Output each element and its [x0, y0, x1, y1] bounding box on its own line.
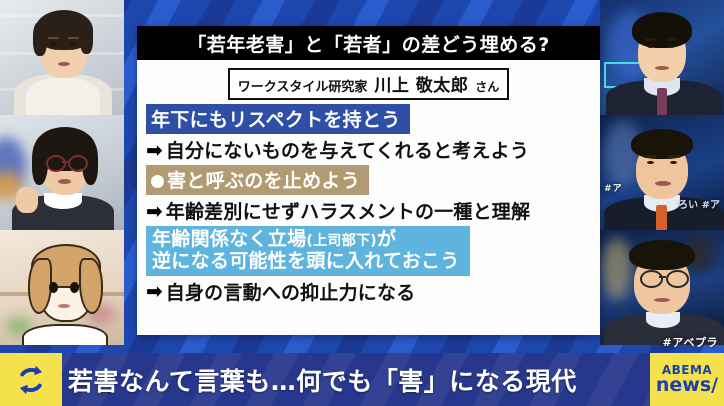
- point-2-bullet: ➡ 年齢差別にせずハラスメントの一種と理解: [146, 197, 591, 224]
- point-3-bullet-text: 自身の言動への抑止力になる: [166, 278, 416, 305]
- left-video-column: [0, 0, 124, 345]
- speaker-name: 川上 敬太郎: [374, 71, 468, 96]
- point-3-heading-line1-note: (上司部下): [306, 233, 377, 249]
- participant-silhouette: [0, 115, 124, 230]
- panel-right-3[interactable]: [600, 230, 724, 345]
- abema-news-logo: ABEMA news/: [650, 353, 724, 406]
- card-title-bar: 「若年老害」と「若者」の差どう埋める?: [137, 26, 600, 60]
- point-3-heading-line: 年齢関係なく立場(上司部下)が逆になる可能性を頭に入れておこう: [146, 226, 591, 276]
- point-1-heading: 年下にもリスペクトを持とう: [146, 104, 410, 134]
- arrow-right-icon: ➡: [146, 140, 163, 160]
- participant-silhouette: [600, 230, 724, 345]
- point-3-bullet: ➡ 自身の言動への抑止力になる: [146, 278, 591, 305]
- point-3-heading-line1-tail: が: [377, 228, 396, 250]
- speaker-role: ワークスタイル研究家: [238, 76, 368, 95]
- panel-hashtag-secondary: ろい #ア: [678, 196, 720, 211]
- panel-right-2[interactable]: ろい #ア: [600, 115, 724, 230]
- speaker-row: ワークスタイル研究家 川上 敬太郎 さん: [146, 68, 591, 100]
- point-2-heading-line: 害と呼ぶのを止めよう: [146, 165, 591, 195]
- lower-third-banner: 若害なんて言葉も…何でも「害」になる現代 ABEMA news/: [0, 353, 724, 406]
- avatar-illustration: [0, 230, 124, 345]
- right-video-column: ろい #ア: [600, 0, 724, 345]
- participant-silhouette: [0, 0, 124, 115]
- banner-headline: 若害なんて言葉も…何でも「害」になる現代: [62, 362, 650, 398]
- point-2-heading: 害と呼ぶのを止めよう: [167, 170, 360, 192]
- point-1-heading-line: 年下にもリスペクトを持とう: [146, 104, 591, 134]
- point-3-heading-line1: 年齢関係なく立場: [152, 228, 306, 250]
- panel-right-1[interactable]: [600, 0, 724, 115]
- speaker-box: ワークスタイル研究家 川上 敬太郎 さん: [228, 68, 510, 100]
- participant-silhouette: [600, 115, 724, 230]
- card-body: ワークスタイル研究家 川上 敬太郎 さん 年下にもリスペクトを持とう ➡ 自分に…: [137, 60, 600, 305]
- arrow-right-icon: ➡: [146, 201, 163, 221]
- point-2-bullet-text: 年齢差別にせずハラスメントの一種と理解: [166, 197, 530, 224]
- point-3-heading-wrap: 年齢関係なく立場(上司部下)が逆になる可能性を頭に入れておこう: [146, 226, 470, 276]
- panel-left-2[interactable]: [0, 115, 124, 230]
- point-1-bullet: ➡ 自分にないものを与えてくれると考えよう: [146, 136, 591, 163]
- information-card: 「若年老害」と「若者」の差どう埋める? ワークスタイル研究家 川上 敬太郎 さん…: [137, 26, 600, 335]
- point-2-heading-wrap: 害と呼ぶのを止めよう: [146, 165, 369, 195]
- speaker-honorific: さん: [475, 78, 499, 95]
- recycle-icon-box: [0, 353, 62, 406]
- program-hashtag: #アベプラ: [663, 334, 719, 350]
- point-3-heading-line2: 逆になる可能性を頭に入れておこう: [152, 250, 460, 272]
- point-1-bullet-text: 自分にないものを与えてくれると考えよう: [166, 136, 529, 163]
- participant-silhouette: [600, 0, 724, 115]
- arrow-right-icon: ➡: [146, 281, 163, 301]
- panel-left-1[interactable]: [0, 0, 124, 115]
- masked-word-circle-icon: [151, 175, 164, 188]
- logo-news: news/: [656, 376, 718, 395]
- panel-left-3[interactable]: [0, 230, 124, 345]
- broadcast-stage: ろい #ア: [0, 0, 724, 406]
- recycle-icon: [12, 361, 50, 399]
- page-title: 「若年老害」と「若者」の差どう埋める?: [187, 30, 550, 57]
